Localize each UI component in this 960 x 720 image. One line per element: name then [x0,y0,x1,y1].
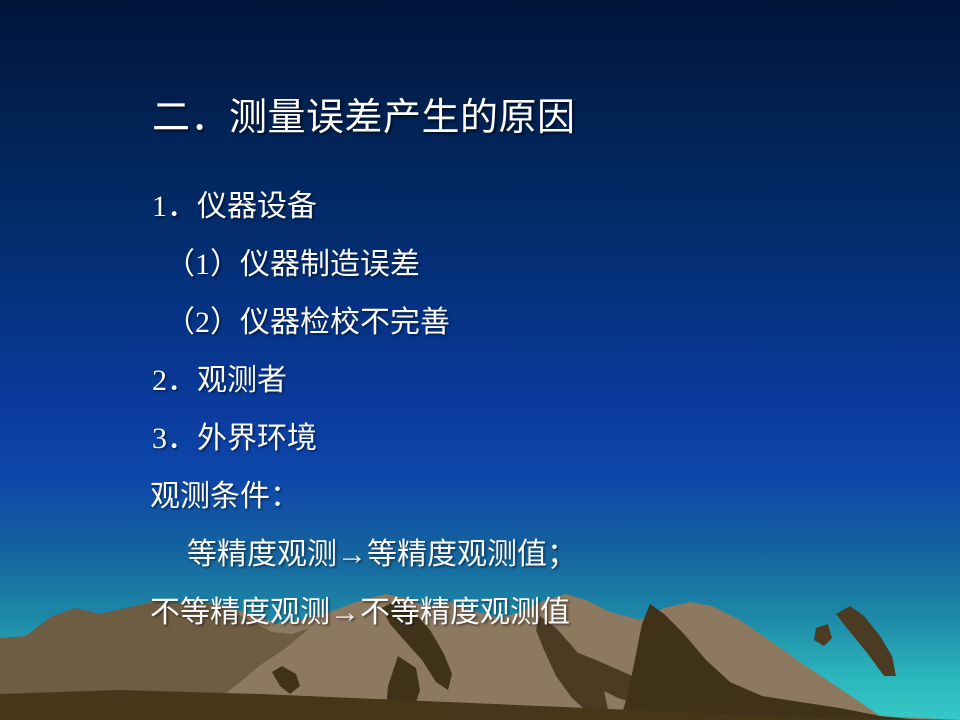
slide-body: 1．仪器设备 （1）仪器制造误差 （2）仪器检校不完善 2．观测者 3．外界环境… [0,178,960,642]
body-line-5: 3．外界环境 [0,410,960,468]
body-line-6: 观测条件： [0,468,960,526]
body-line-4: 2．观测者 [0,352,960,410]
body-line-7: 等精度观测→等精度观测值； [0,526,960,584]
page-title: 二．测量误差产生的原因 [152,96,576,141]
body-line-1: 1．仪器设备 [0,178,960,236]
body-line-2: （1）仪器制造误差 [0,236,960,294]
slide-canvas: 二．测量误差产生的原因 1．仪器设备 （1）仪器制造误差 （2）仪器检校不完善 … [0,0,960,720]
body-line-8: 不等精度观测→不等精度观测值 [0,584,960,642]
body-line-3: （2）仪器检校不完善 [0,294,960,352]
